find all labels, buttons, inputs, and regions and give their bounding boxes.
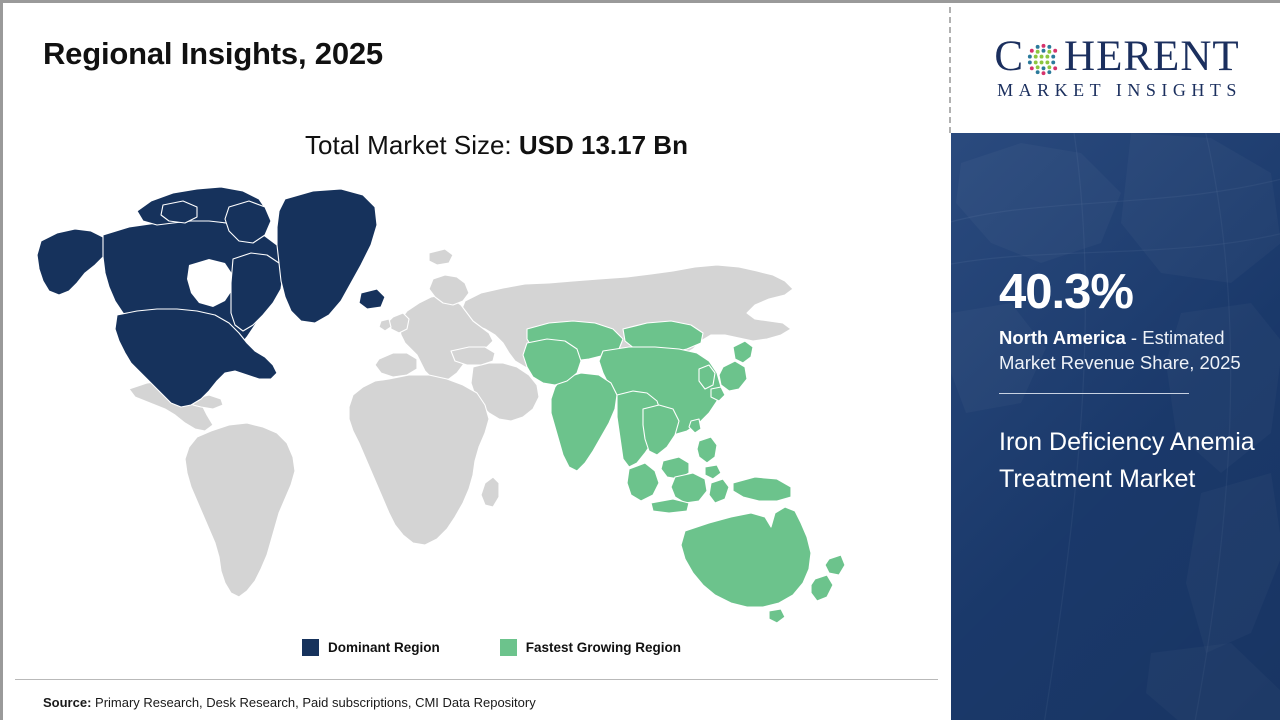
map-region-philippines-south xyxy=(705,465,721,479)
legend-item-fastest-growing: Fastest Growing Region xyxy=(500,639,681,656)
map-region-philippines xyxy=(697,437,717,463)
map-region-sulawesi xyxy=(709,479,729,503)
map-region-tasmania xyxy=(769,609,785,623)
legend-label-fastest-growing: Fastest Growing Region xyxy=(526,640,681,655)
source-divider xyxy=(15,679,938,680)
map-region-japan xyxy=(733,341,753,363)
market-report-title: Iron Deficiency Anemia Treatment Market xyxy=(999,424,1261,498)
map-region-iceland xyxy=(359,289,385,309)
legend-item-dominant: Dominant Region xyxy=(302,639,440,656)
map-region-ireland xyxy=(379,319,391,331)
map-region-japan-honshu xyxy=(719,361,747,391)
legend-swatch-fastest-growing xyxy=(500,639,517,656)
world-map-svg xyxy=(33,183,853,633)
legend-label-dominant: Dominant Region xyxy=(328,640,440,655)
share-percentage: 40.3% xyxy=(999,268,1261,317)
map-region-india xyxy=(551,373,617,471)
map-region-svalbard xyxy=(429,249,453,265)
map-region-south-america xyxy=(185,423,295,597)
panel-content: 40.3% North America - Estimated Market R… xyxy=(999,268,1261,497)
map-legend: Dominant Region Fastest Growing Region xyxy=(3,639,950,656)
logo-letter-c: C xyxy=(994,35,1024,78)
share-description: North America - Estimated Market Revenue… xyxy=(999,326,1261,376)
total-market-size-line: Total Market Size: USD 13.17 Bn xyxy=(3,130,950,161)
dotted-globe-icon xyxy=(1024,40,1063,79)
map-region-madagascar xyxy=(481,477,499,507)
source-label: Source: xyxy=(43,695,91,710)
map-region-sumatra xyxy=(627,463,659,501)
infographic-frame: Regional Insights, 2025 Total Market Siz… xyxy=(0,0,1280,720)
map-region-british-isles xyxy=(389,313,409,333)
logo-tagline: MARKET INSIGHTS xyxy=(992,80,1242,101)
logo-wordmark: C xyxy=(994,35,1239,78)
source-text: Primary Research, Desk Research, Paid su… xyxy=(91,695,535,710)
market-size-value: USD 13.17 Bn xyxy=(519,130,688,160)
map-region-indochina xyxy=(643,405,679,455)
panel-divider xyxy=(999,393,1189,394)
map-region-turkey xyxy=(451,347,495,365)
map-region-alaska xyxy=(37,229,107,295)
share-region-name: North America xyxy=(999,327,1126,348)
map-region-quebec xyxy=(231,253,283,331)
map-region-new-zealand-north xyxy=(825,555,845,575)
world-map xyxy=(33,183,853,633)
brand-logo: C xyxy=(951,3,1280,133)
map-region-new-guinea xyxy=(733,477,791,501)
market-size-label: Total Market Size: xyxy=(305,130,519,160)
map-region-africa xyxy=(349,375,489,545)
logo-letters-herent: HERENT xyxy=(1064,35,1240,78)
map-region-australia xyxy=(681,507,811,607)
map-region-victoria-island xyxy=(161,201,197,223)
map-region-new-zealand-south xyxy=(811,575,833,601)
map-region-java xyxy=(651,499,689,513)
highlight-panel: 40.3% North America - Estimated Market R… xyxy=(951,133,1280,720)
map-region-borneo xyxy=(671,473,707,503)
page-title: Regional Insights, 2025 xyxy=(43,36,383,72)
left-content-panel: Regional Insights, 2025 Total Market Siz… xyxy=(3,3,950,720)
map-region-iberia xyxy=(375,353,417,377)
map-region-taiwan xyxy=(689,419,701,433)
legend-swatch-dominant xyxy=(302,639,319,656)
source-note: Source: Primary Research, Desk Research,… xyxy=(43,695,536,710)
